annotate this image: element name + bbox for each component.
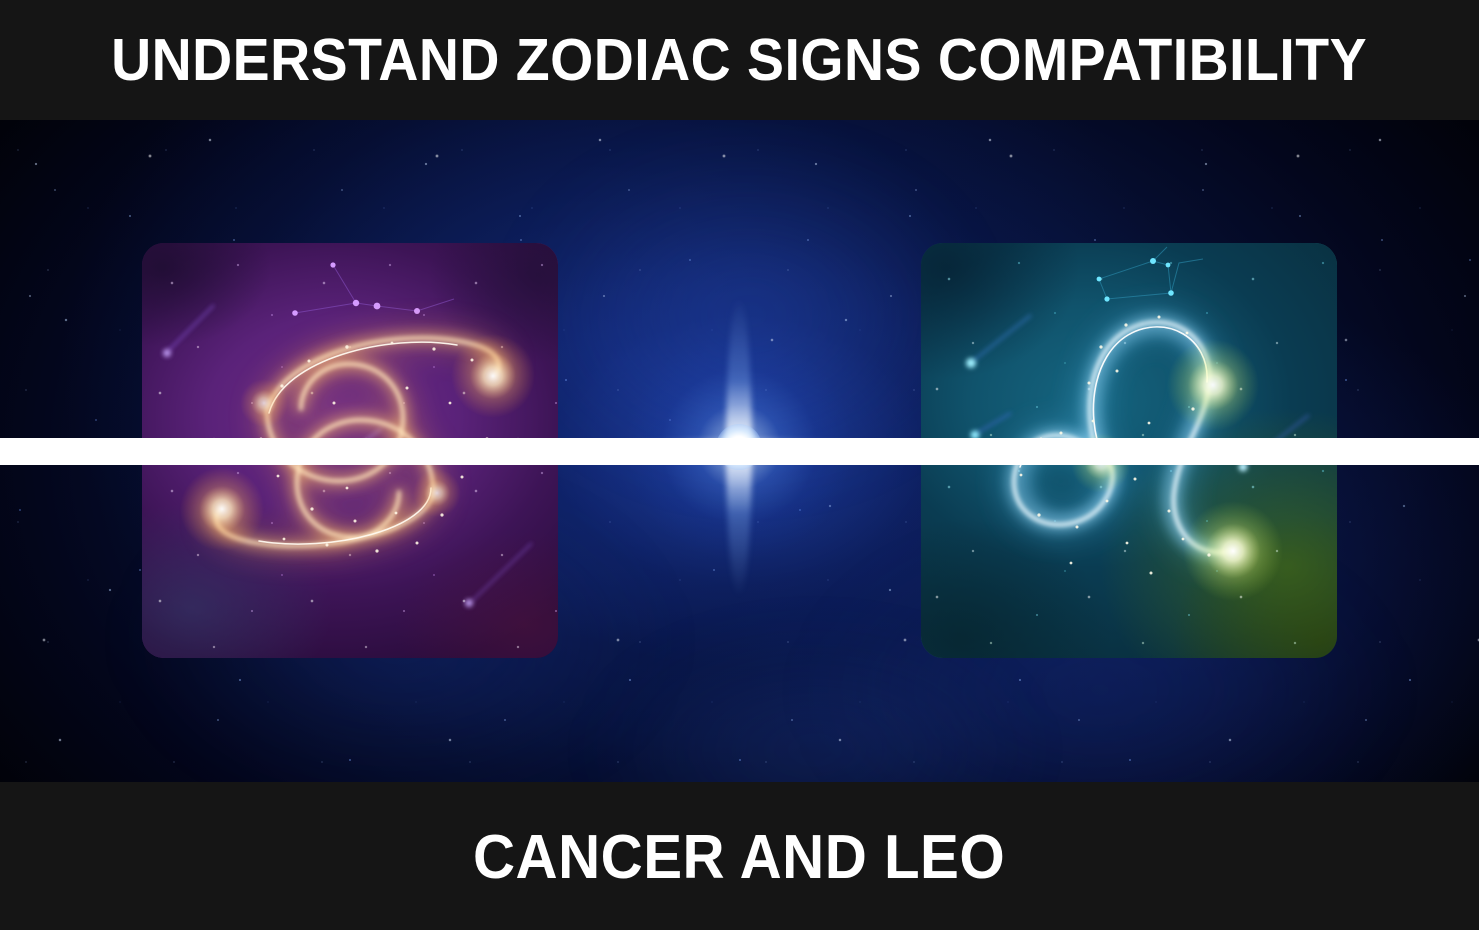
white-divider-bar — [0, 438, 1479, 465]
constellation-stars — [1097, 258, 1174, 302]
header-band: UNDERSTAND ZODIAC SIGNS COMPATIBILITY — [0, 0, 1479, 120]
nebula-cloud — [600, 640, 1030, 782]
page-title: UNDERSTAND ZODIAC SIGNS COMPATIBILITY — [112, 31, 1368, 90]
zodiac-compatibility-poster: UNDERSTAND ZODIAC SIGNS COMPATIBILITY CA… — [0, 0, 1479, 930]
constellation-lines — [1099, 247, 1203, 299]
constellation-stars — [292, 262, 420, 315]
footer-band: CANCER AND LEO — [0, 782, 1479, 930]
sign-pair-title: CANCER AND LEO — [473, 827, 1005, 889]
nebula-cloud — [520, 150, 980, 480]
